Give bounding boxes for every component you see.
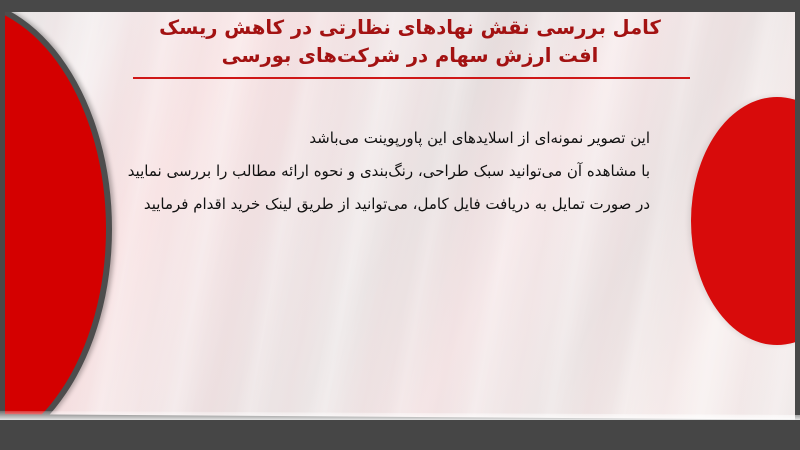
background-streaks-overlay (5, 11, 795, 436)
right-red-circle-decoration (691, 97, 795, 345)
slide-frame-top (0, 0, 800, 12)
slide-title-line-1: کامل بررسی نقش نهادهای نظارتی در کاهش ری… (110, 14, 710, 42)
body-text-line-3: در صورت تمایل به دریافت فایل کامل، می‌تو… (128, 188, 650, 221)
slide-title-line-2: افت ارزش سهام در شرکت‌های بورسی (110, 42, 710, 70)
slide-frame-left (0, 0, 5, 450)
slide-title: کامل بررسی نقش نهادهای نظارتی در کاهش ری… (110, 14, 710, 70)
body-text-line-1: این تصویر نمونه‌ای از اسلایدهای این پاور… (128, 122, 650, 155)
left-red-ellipse-decoration (5, 11, 112, 436)
slide-body-text: این تصویر نمونه‌ای از اسلایدهای این پاور… (128, 122, 650, 221)
title-underline-rule (133, 77, 690, 79)
slide-background (5, 11, 795, 436)
body-text-line-2: با مشاهده آن می‌توانید سبک طراحی، رنگ‌بن… (128, 155, 650, 188)
slide-frame-right (795, 0, 800, 450)
presentation-slide: کامل بررسی نقش نهادهای نظارتی در کاهش ری… (0, 0, 800, 450)
